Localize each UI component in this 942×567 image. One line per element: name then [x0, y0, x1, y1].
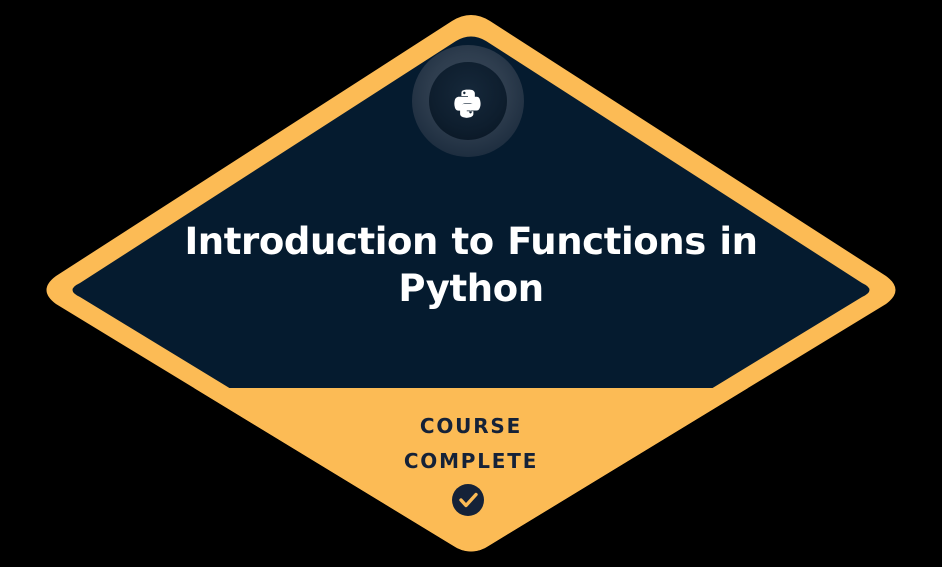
python-icon-medallion	[412, 45, 524, 157]
check-circle-icon	[452, 484, 484, 516]
course-completion-badge: Introduction to Functions in Python COUR…	[0, 0, 942, 567]
check-circle-bg	[452, 484, 484, 516]
badge-graphic	[0, 0, 942, 567]
